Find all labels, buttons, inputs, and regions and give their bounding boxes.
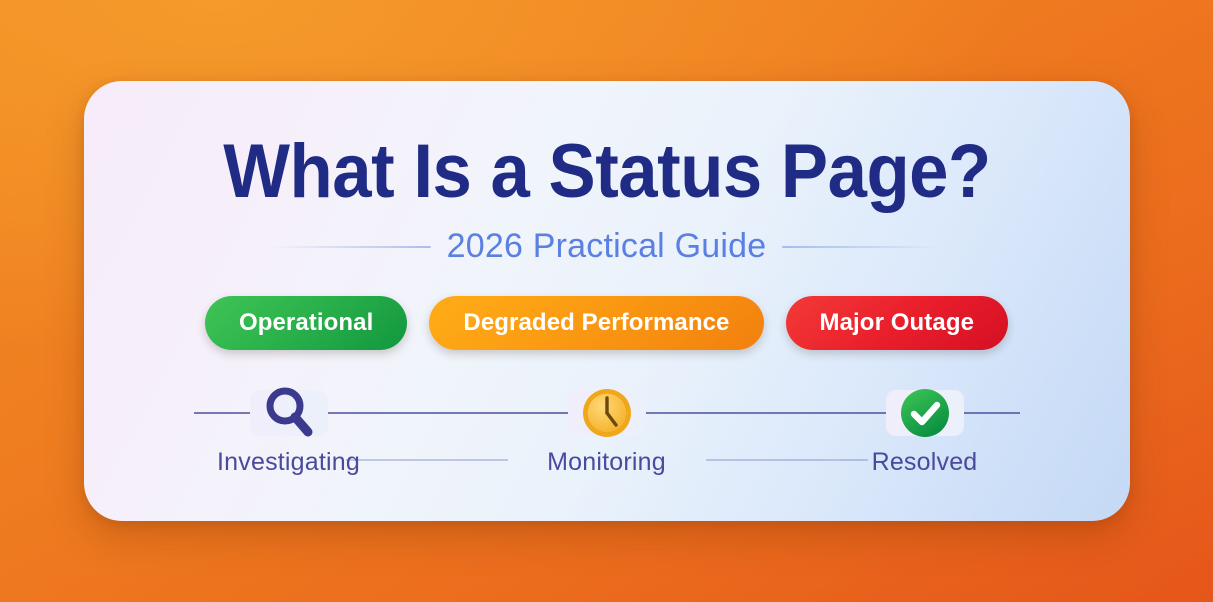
status-pill-group: Operational Degraded Performance Major O… xyxy=(84,296,1130,350)
check-circle-icon xyxy=(880,382,970,444)
page-subtitle: 2026 Practical Guide xyxy=(447,227,767,266)
timeline-step-label: Resolved xyxy=(862,448,988,477)
status-pill-operational[interactable]: Operational xyxy=(205,296,407,350)
timeline-label-connector-2 xyxy=(706,459,868,461)
incident-timeline: Investigating xyxy=(194,382,1020,477)
timeline-step-label: Investigating xyxy=(207,448,370,477)
page-title: What Is a Status Page? xyxy=(120,135,1093,209)
status-pill-degraded-performance[interactable]: Degraded Performance xyxy=(429,296,763,350)
timeline-step-label: Monitoring xyxy=(537,448,676,477)
timeline-step-investigating[interactable]: Investigating xyxy=(194,382,384,477)
subtitle-divider-right xyxy=(782,246,942,248)
subtitle-row: 2026 Practical Guide xyxy=(84,227,1130,266)
timeline-step-resolved[interactable]: Resolved xyxy=(830,382,1020,477)
timeline-steps: Investigating xyxy=(194,382,1020,477)
status-pill-major-outage[interactable]: Major Outage xyxy=(786,296,1009,350)
timeline-step-monitoring[interactable]: Monitoring xyxy=(512,382,702,477)
magnifier-icon xyxy=(244,382,334,444)
status-page-card: What Is a Status Page? 2026 Practical Gu… xyxy=(84,81,1130,521)
clock-icon xyxy=(562,382,652,444)
subtitle-divider-left xyxy=(271,246,431,248)
